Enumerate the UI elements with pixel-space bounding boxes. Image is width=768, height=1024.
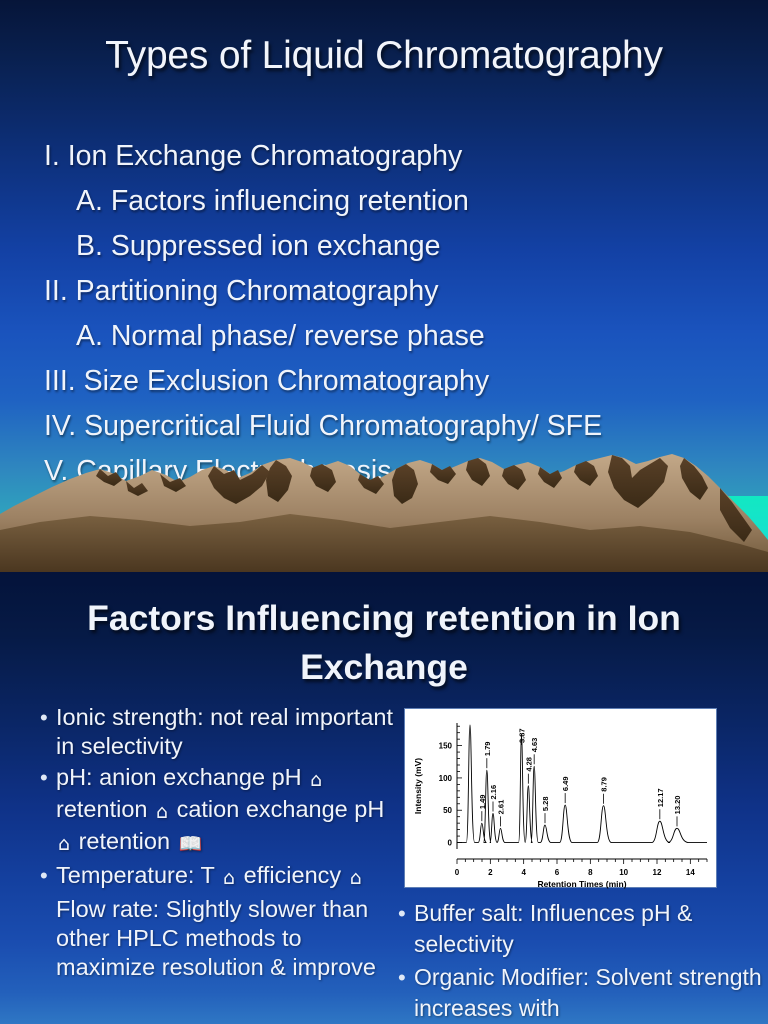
arrow-symbol-icon: ⌂ — [348, 864, 364, 893]
bullet-dot-icon: • — [392, 898, 414, 929]
slide1-outline-item: A. Normal phase/ reverse phase — [44, 314, 768, 359]
slide2-title: Factors Influencing retention in Ion Exc… — [36, 594, 732, 692]
svg-text:4.28: 4.28 — [524, 757, 533, 772]
svg-text:2.16: 2.16 — [489, 785, 498, 800]
bullet-dot-icon: • — [34, 861, 56, 890]
bullet-item: •pH: anion exchange pH ⌂ retention ⌂ cat… — [34, 763, 394, 859]
svg-text:1.79: 1.79 — [483, 742, 492, 757]
slide2-right-bullet-list: •Buffer salt: Influences pH & selectivit… — [392, 898, 768, 1024]
svg-text:8.79: 8.79 — [600, 777, 609, 792]
svg-text:14: 14 — [686, 868, 695, 877]
slide-types-of-liquid-chromatography: Types of Liquid Chromatography I. Ion Ex… — [0, 0, 768, 572]
svg-text:3.87: 3.87 — [518, 728, 527, 743]
bullet-text: pH: anion exchange pH ⌂ retention ⌂ cati… — [56, 763, 394, 859]
slide2-left-bullet-list: •Ionic strength: not real important in s… — [34, 703, 394, 984]
svg-text:150: 150 — [439, 742, 453, 751]
slide1-outline-item: A. Factors influencing retention — [44, 179, 768, 224]
arrow-symbol-icon: ⌂ — [221, 864, 237, 893]
svg-text:6: 6 — [555, 868, 560, 877]
bullet-item: •Buffer salt: Influences pH & selectivit… — [392, 898, 768, 960]
slide-factors-influencing-retention: Factors Influencing retention in Ion Exc… — [0, 572, 768, 1024]
bullet-text: Flow rate: Slightly slower than other HP… — [56, 895, 394, 982]
svg-text:100: 100 — [439, 774, 453, 783]
svg-text:12: 12 — [653, 868, 662, 877]
svg-text:Intensity (mV): Intensity (mV) — [413, 758, 423, 814]
svg-text:0: 0 — [455, 868, 460, 877]
slide1-outline-item: II. Partitioning Chromatography — [44, 269, 768, 314]
slide1-title: Types of Liquid Chromatography — [0, 34, 768, 78]
svg-text:1.49: 1.49 — [478, 795, 487, 810]
bullet-item: •Flow rate: Slightly slower than other H… — [34, 895, 394, 982]
chromatogram-svg: 050100150Intensity (mV)02468101214Retent… — [405, 709, 718, 889]
bullet-text: Organic Modifier: Solvent strength incre… — [414, 962, 768, 1024]
bullet-text: Temperature: T ⌂ efficiency ⌂ — [56, 861, 394, 893]
svg-text:12.17: 12.17 — [656, 788, 665, 807]
svg-text:50: 50 — [443, 806, 452, 815]
svg-text:10: 10 — [619, 868, 628, 877]
svg-text:6.49: 6.49 — [561, 776, 570, 791]
bullet-text: Buffer salt: Influences pH & selectivity — [414, 898, 768, 960]
open-book-icon: 📖 — [177, 830, 205, 859]
arrow-symbol-icon: ⌂ — [56, 830, 72, 859]
bullet-dot-icon: • — [34, 763, 56, 792]
svg-text:2: 2 — [488, 868, 493, 877]
svg-text:2.61: 2.61 — [497, 800, 506, 815]
svg-text:4.63: 4.63 — [530, 738, 539, 753]
mountain-landscape-graphic — [0, 452, 768, 572]
slide1-outline-item: B. Suppressed ion exchange — [44, 224, 768, 269]
svg-text:8: 8 — [588, 868, 593, 877]
bullet-item: •Ionic strength: not real important in s… — [34, 703, 394, 761]
presentation-page: Types of Liquid Chromatography I. Ion Ex… — [0, 0, 768, 1024]
svg-text:0: 0 — [448, 839, 453, 848]
bullet-text: Ionic strength: not real important in se… — [56, 703, 394, 761]
slide1-outline-list: I. Ion Exchange ChromatographyA. Factors… — [44, 134, 768, 494]
bullet-dot-icon: • — [34, 703, 56, 732]
svg-text:5.28: 5.28 — [541, 796, 550, 811]
svg-text:13.20: 13.20 — [673, 796, 682, 815]
arrow-symbol-icon: ⌂ — [154, 798, 170, 827]
bullet-item: •Organic Modifier: Solvent strength incr… — [392, 962, 768, 1024]
bullet-dot-icon: • — [392, 962, 414, 993]
svg-text:4: 4 — [521, 868, 526, 877]
bullet-item: •Temperature: T ⌂ efficiency ⌂ — [34, 861, 394, 893]
arrow-symbol-icon: ⌂ — [308, 766, 324, 795]
slide1-outline-item: III. Size Exclusion Chromatography — [44, 359, 768, 404]
svg-text:Retention Times (min): Retention Times (min) — [537, 879, 626, 889]
slide1-outline-item: I. Ion Exchange Chromatography — [44, 134, 768, 179]
chromatogram-chart: 050100150Intensity (mV)02468101214Retent… — [404, 708, 717, 888]
slide1-outline-item: IV. Supercritical Fluid Chromatography/ … — [44, 404, 768, 449]
